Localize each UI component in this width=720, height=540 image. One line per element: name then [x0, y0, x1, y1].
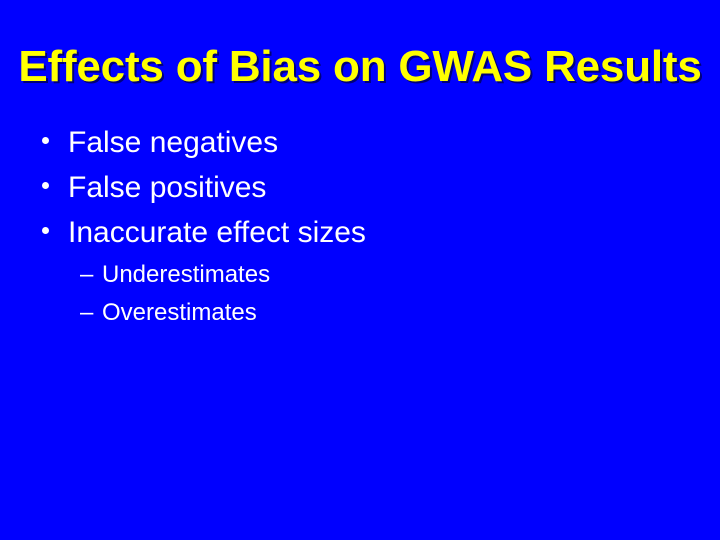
list-item: False negatives: [36, 128, 686, 158]
sub-list-item: – Underestimates: [36, 263, 686, 287]
bullet-dot-icon: [36, 137, 68, 144]
bullet-dot-icon: [36, 182, 68, 189]
sub-list-item: – Overestimates: [36, 301, 686, 325]
sub-list-item-label: Overestimates: [102, 301, 686, 325]
list-item: Inaccurate effect sizes: [36, 218, 686, 248]
list-item-label: Inaccurate effect sizes: [68, 218, 686, 248]
page-title: Effects of Bias on GWAS Results: [0, 44, 720, 90]
sub-list-item-label: Underestimates: [102, 263, 686, 287]
list-item: False positives: [36, 173, 686, 203]
dash-icon: –: [80, 301, 102, 325]
list-item-label: False negatives: [68, 128, 686, 158]
presentation-slide: Effects of Bias on GWAS Results False ne…: [0, 0, 720, 540]
slide-body-content: False negatives False positives Inaccura…: [36, 128, 686, 339]
dash-icon: –: [80, 263, 102, 287]
list-item-label: False positives: [68, 173, 686, 203]
bullet-dot-icon: [36, 227, 68, 234]
